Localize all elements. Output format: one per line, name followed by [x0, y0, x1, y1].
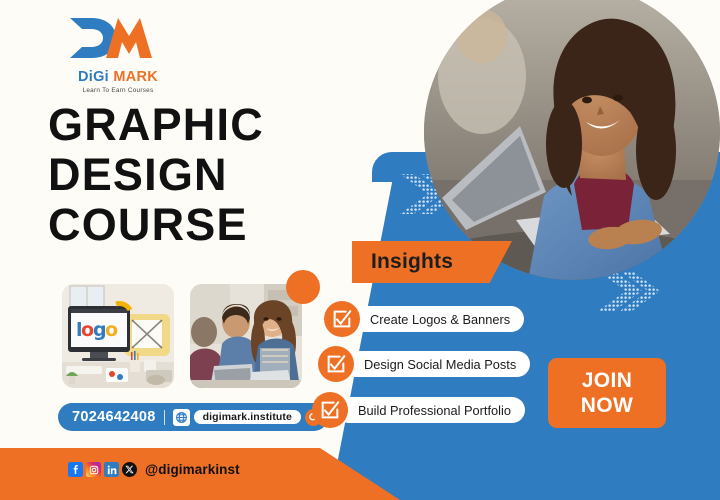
headline-line-1: GRAPHIC: [48, 100, 264, 150]
join-now-button[interactable]: JOIN NOW: [548, 358, 666, 428]
contact-bar[interactable]: 7024642408 digimark.institute: [58, 403, 328, 431]
feature-item[interactable]: Create Logos & Banners: [324, 301, 524, 337]
website-url[interactable]: digimark.institute: [194, 410, 301, 424]
social-links: @digimarkinst: [68, 462, 240, 477]
phone-number[interactable]: 7024642408: [72, 409, 156, 425]
brand-logo: DiGi MARK Learn To Earn Courses: [58, 14, 178, 94]
feature-item[interactable]: Build Professional Portfolio: [312, 392, 525, 428]
contact-divider: [164, 410, 165, 425]
checkbox-check-icon: [312, 392, 348, 428]
poster-canvas: DiGi MARK Learn To Earn Courses GRAPHIC …: [0, 0, 720, 500]
headline-line-3: COURSE: [48, 200, 264, 250]
page-title: GRAPHIC DESIGN COURSE: [48, 100, 264, 250]
facebook-icon[interactable]: [68, 462, 83, 477]
svg-text:o: o: [105, 319, 118, 341]
designer-workspace-photo: l o g o: [62, 284, 174, 388]
checkbox-check-icon: [324, 301, 360, 337]
feature-label: Design Social Media Posts: [342, 351, 530, 377]
orange-accent-circle: [286, 270, 320, 304]
insights-banner: Insights: [352, 241, 512, 283]
cta-line-2: NOW: [581, 393, 634, 418]
feature-label: Build Professional Portfolio: [336, 397, 525, 423]
social-handle[interactable]: @digimarkinst: [145, 462, 240, 477]
instagram-icon[interactable]: [86, 462, 101, 477]
students-with-laptops-photo: [190, 284, 302, 388]
headline-line-2: DESIGN: [48, 150, 264, 200]
checkbox-check-icon: [318, 346, 354, 382]
x-twitter-icon[interactable]: [122, 462, 137, 477]
globe-icon: [173, 409, 190, 426]
feature-label: Create Logos & Banners: [348, 306, 524, 332]
logo-wordmark: DiGi MARK: [58, 69, 178, 85]
logo-tagline: Learn To Earn Courses: [58, 87, 178, 94]
cta-line-1: JOIN: [582, 368, 633, 393]
linkedin-icon[interactable]: [104, 462, 119, 477]
dm-monogram-icon: [66, 14, 156, 62]
logo-name-second: MARK: [113, 69, 158, 85]
insights-label: Insights: [371, 250, 453, 274]
logo-name-first: DiGi: [78, 69, 109, 85]
feature-item[interactable]: Design Social Media Posts: [318, 346, 530, 382]
